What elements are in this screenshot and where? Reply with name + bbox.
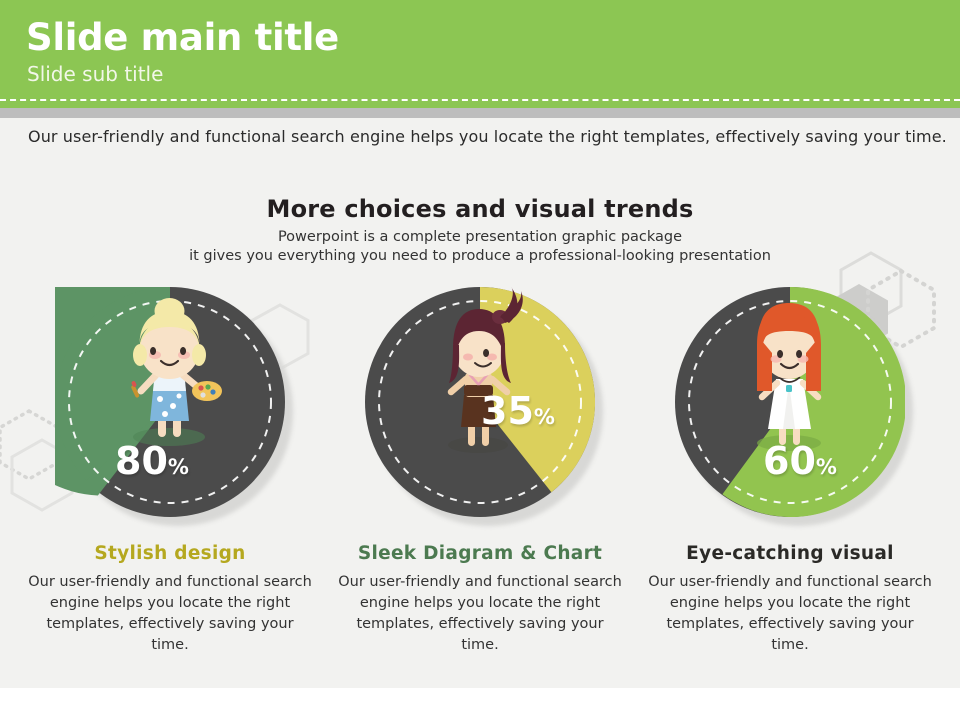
character-illustration-2	[365, 287, 595, 517]
pie-percent-label-3: 60%	[763, 442, 837, 480]
pie-percent-symbol-2: %	[534, 405, 555, 429]
pie-percent-number-2: 35	[481, 389, 534, 433]
caption-title-2: Sleek Diagram & Chart	[330, 543, 630, 564]
pie-chart-3[interactable]: 60%	[675, 287, 905, 517]
pie-percent-number-1: 80	[115, 439, 168, 483]
slide-canvas: Slide main title Slide sub title Our use…	[0, 0, 960, 720]
section-subtitle-line-1: Powerpoint is a complete presentation gr…	[0, 228, 960, 247]
caption-title-1: Stylish design	[20, 543, 320, 564]
pie-chart-1[interactable]: 80%	[55, 287, 285, 517]
character-illustration-1	[55, 287, 285, 517]
intro-text: Our user-friendly and functional search …	[28, 127, 947, 146]
header-dashed-divider	[0, 99, 960, 101]
chart-column-2: 35% Sleek Diagram & Chart Our user-frien…	[330, 287, 630, 656]
section-subtitle: Powerpoint is a complete presentation gr…	[0, 228, 960, 266]
page-title: Slide main title	[26, 16, 339, 60]
caption-body-1: Our user-friendly and functional search …	[20, 572, 320, 656]
caption-title-3: Eye-catching visual	[640, 543, 940, 564]
slide-header: Slide main title Slide sub title	[0, 0, 960, 108]
section-subtitle-line-2: it gives you everything you need to prod…	[0, 247, 960, 266]
pie-percent-symbol-1: %	[168, 455, 189, 479]
pie-chart-2[interactable]: 35%	[365, 287, 595, 517]
chart-column-1: 80% Stylish design Our user-friendly and…	[20, 287, 320, 656]
pie-percent-symbol-3: %	[816, 455, 837, 479]
pie-percent-label-1: 80%	[115, 442, 189, 480]
section-title: More choices and visual trends	[0, 195, 960, 223]
slide-footer-background	[0, 688, 960, 720]
caption-body-3: Our user-friendly and functional search …	[640, 572, 940, 656]
page-subtitle: Slide sub title	[27, 62, 163, 86]
chart-column-3: 60% Eye-catching visual Our user-friendl…	[640, 287, 940, 656]
pie-percent-label-2: 35%	[481, 392, 555, 430]
pie-percent-number-3: 60	[763, 439, 816, 483]
caption-body-2: Our user-friendly and functional search …	[330, 572, 630, 656]
header-gray-band	[0, 108, 960, 118]
